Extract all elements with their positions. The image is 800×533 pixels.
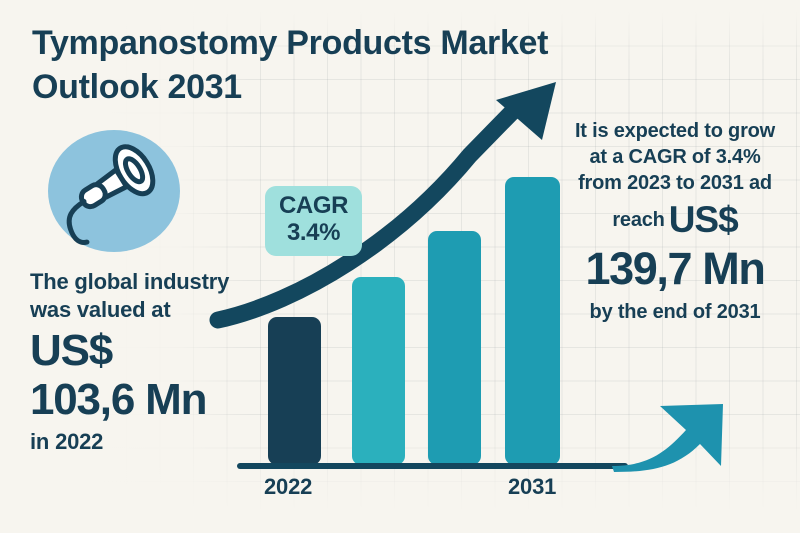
left-stat-figure: US$ 103,6 Mn bbox=[30, 329, 262, 423]
right-stat-lead: It is expected to grow at a CAGR of 3.4%… bbox=[566, 118, 784, 244]
right-stat-tail: by the end of 2031 bbox=[566, 300, 784, 324]
right-stat-block: It is expected to grow at a CAGR of 3.4%… bbox=[566, 118, 784, 324]
axis-label-2022: 2022 bbox=[264, 474, 312, 500]
cagr-badge: CAGR 3.4% bbox=[265, 186, 362, 256]
infographic-canvas: Tympanostomy Products Market Outlook 203… bbox=[0, 0, 800, 533]
left-stat-block: The global industry was valued at US$ 10… bbox=[30, 268, 262, 456]
cagr-badge-label: CAGR bbox=[271, 193, 356, 220]
left-stat-tail: in 2022 bbox=[30, 429, 262, 455]
left-stat-amount: 103,6 Mn bbox=[30, 378, 262, 423]
left-stat-currency: US$ bbox=[30, 326, 112, 375]
axis-label-2031: 2031 bbox=[508, 474, 556, 500]
right-stat-currency: US$ bbox=[669, 199, 738, 240]
right-stat-amount: 139,7 Mn bbox=[566, 246, 784, 292]
left-stat-lead: The global industry was valued at bbox=[30, 268, 262, 323]
cagr-badge-value: 3.4% bbox=[271, 220, 356, 247]
